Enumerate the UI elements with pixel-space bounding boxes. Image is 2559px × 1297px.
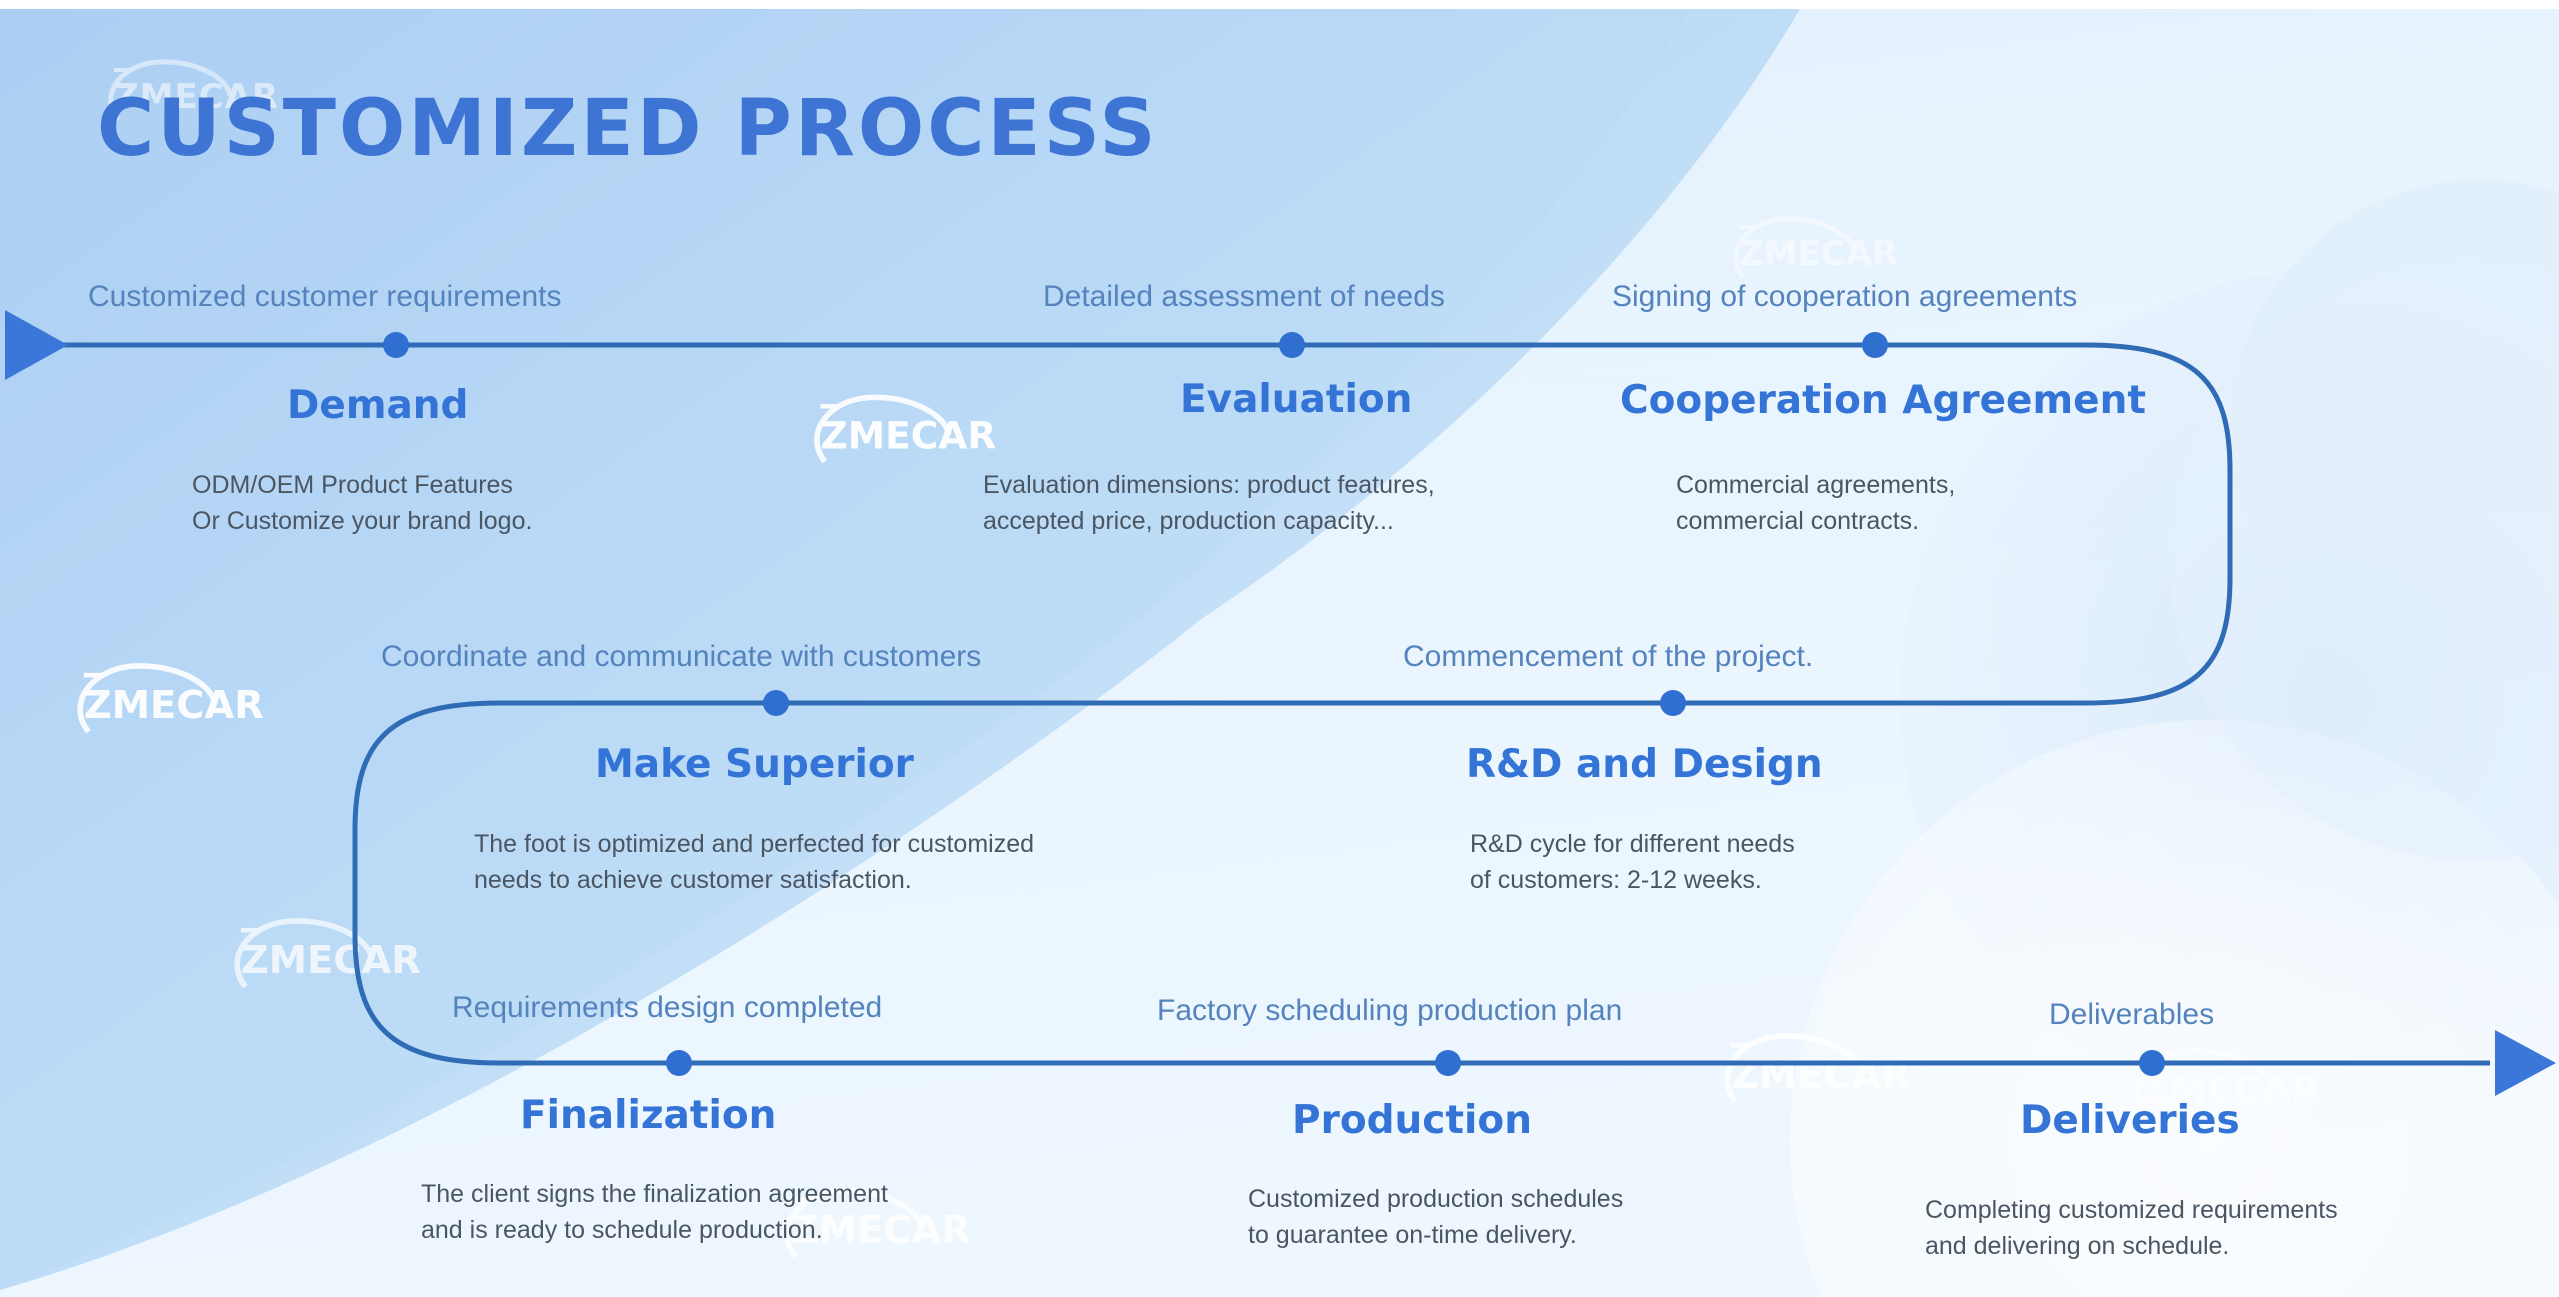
- process-infographic: ZMECAR ZMECAR ZMECAR ZMECAR: [0, 0, 2559, 1297]
- milestone-dot: [666, 1050, 692, 1076]
- event-label-finalization: Requirements design completed: [452, 991, 882, 1025]
- event-label-evaluation: Detailed assessment of needs: [1043, 280, 1445, 314]
- stage-description-production: Customized production schedules to guara…: [1248, 1182, 1623, 1253]
- stage-description-demand: ODM/OEM Product Features Or Customize yo…: [192, 468, 532, 539]
- milestone-dot: [383, 332, 409, 358]
- page-title: CUSTOMIZED PROCESS: [97, 90, 1159, 168]
- milestone-dot: [2139, 1050, 2165, 1076]
- timeline-start-arrow-icon: [5, 310, 68, 380]
- stage-title-evaluation: Evaluation: [1180, 377, 1412, 422]
- event-label-deliveries: Deliverables: [2049, 998, 2214, 1032]
- milestone-dot: [1279, 332, 1305, 358]
- stage-description-cooperation-agreement: Commercial agreements, commercial contra…: [1676, 468, 1955, 539]
- stage-title-make-superior: Make Superior: [595, 742, 914, 787]
- stage-description-deliveries: Completing customized requirements and d…: [1925, 1193, 2338, 1264]
- milestone-dot: [1862, 332, 1888, 358]
- stage-title-production: Production: [1292, 1098, 1532, 1143]
- milestone-dot: [1435, 1050, 1461, 1076]
- stage-title-rd-and-design: R&D and Design: [1466, 742, 1823, 787]
- stage-description-finalization: The client signs the finalization agreem…: [421, 1177, 888, 1248]
- event-label-demand: Customized customer requirements: [88, 280, 562, 314]
- event-label-production: Factory scheduling production plan: [1157, 994, 1622, 1028]
- stage-title-demand: Demand: [287, 383, 468, 428]
- timeline-end-arrow-icon: [2495, 1030, 2556, 1096]
- stage-description-evaluation: Evaluation dimensions: product features,…: [983, 468, 1435, 539]
- stage-description-rd-and-design: R&D cycle for different needs of custome…: [1470, 827, 1795, 898]
- event-label-make-superior: Coordinate and communicate with customer…: [381, 640, 981, 674]
- stage-title-deliveries: Deliveries: [2020, 1098, 2240, 1143]
- stage-title-cooperation-agreement: Cooperation Agreement: [1620, 378, 2146, 423]
- event-label-rd-and-design: Commencement of the project.: [1403, 640, 1813, 674]
- milestone-dot: [1660, 690, 1686, 716]
- stage-description-make-superior: The foot is optimized and perfected for …: [474, 827, 1034, 898]
- milestone-dot: [763, 690, 789, 716]
- event-label-cooperation-agreement: Signing of cooperation agreements: [1612, 280, 2077, 314]
- stage-title-finalization: Finalization: [520, 1093, 776, 1138]
